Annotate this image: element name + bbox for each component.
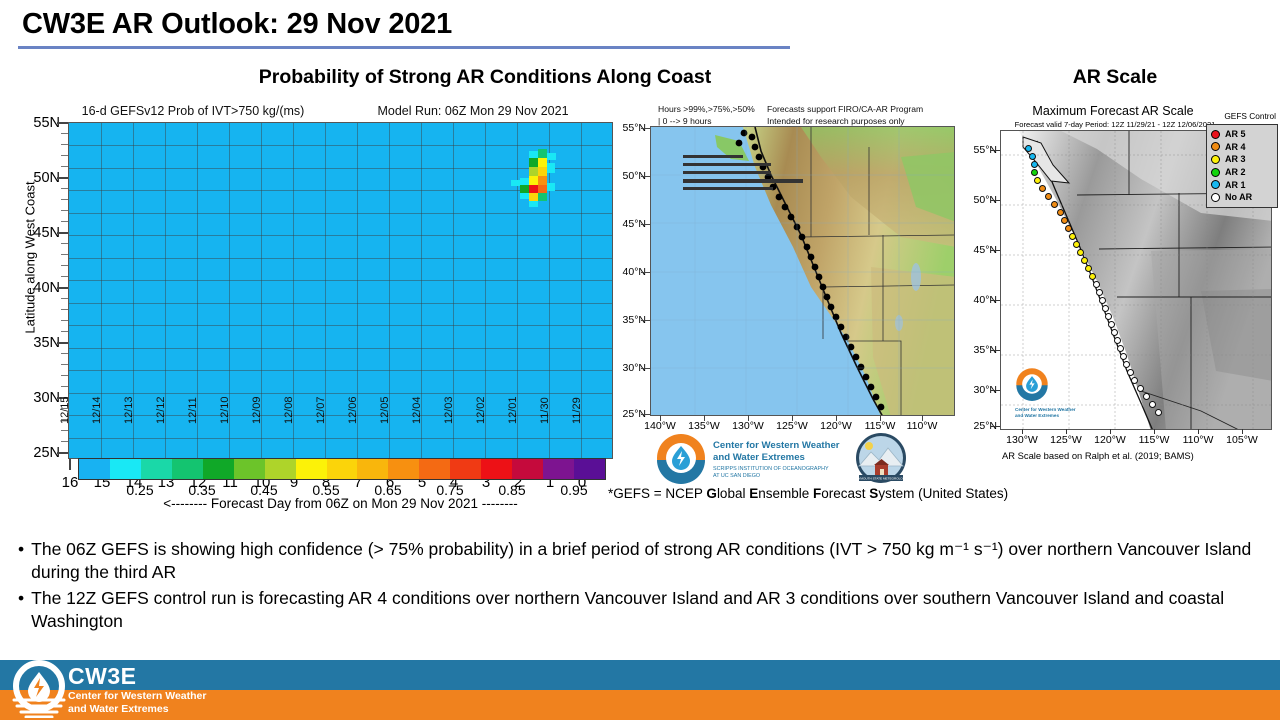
no-ar-dot-icon: [1211, 193, 1220, 202]
ar-legend-label-2: AR 2: [1225, 167, 1246, 177]
partner-logos: Center for Western Weather and Water Ext…: [655, 432, 965, 484]
xdate-1205: 12/05: [379, 396, 391, 424]
footnote-e: E: [749, 486, 758, 501]
ar5-dot-icon: [1211, 130, 1220, 139]
ar-map-inset-logo: Center for Western Weather and Water Ext…: [1015, 367, 1077, 419]
cb-label-055: 0.55: [312, 482, 339, 498]
gefs-footnote: *GEFS = NCEP Global Ensemble Forecast Sy…: [608, 486, 1008, 501]
map-hours-note-line1: Hours >99%,>75%,>50%: [658, 104, 755, 116]
page-title: CW3E AR Outlook: 29 Nov 2021: [22, 8, 452, 41]
footer-subtitle-line1: Center for Western Weather: [68, 690, 206, 703]
xdate-1208: 12/08: [283, 396, 295, 424]
xdate-1201: 12/01: [507, 396, 519, 424]
right-lon-125w: 125°W: [1050, 434, 1082, 446]
cw3e-logo-line1: Center for Western Weather: [713, 440, 840, 452]
footer-subtitle-line2: and Water Extremes: [68, 703, 206, 716]
bullet-text-1: The 06Z GEFS is showing high confidence …: [31, 538, 1268, 585]
ar-legend-label-3: AR 3: [1225, 154, 1246, 164]
xdate-1215: 12/15: [59, 396, 71, 424]
cw3e-logo-line4: AT UC SAN DIEGO: [713, 473, 840, 480]
cb-label-035: 0.35: [188, 482, 215, 498]
xdate-1129: 11/29: [571, 397, 583, 424]
cw3e-logo-line3: SCRIPPS INSTITUTION OF OCEANOGRAPHY: [713, 466, 840, 473]
cb-label-045: 0.45: [250, 482, 277, 498]
xdate-1206: 12/06: [347, 396, 359, 424]
right-lon-115w: 115°W: [1139, 434, 1170, 446]
heading-probability: Probability of Strong AR Conditions Alon…: [140, 66, 830, 89]
ar2-dot-icon: [1211, 168, 1220, 177]
right-lon-120w: 120°W: [1094, 434, 1126, 446]
ar-legend-row-noar: No AR: [1211, 191, 1273, 204]
footnote-s: S: [869, 486, 878, 501]
bullet-text-2: The 12Z GEFS control run is forecasting …: [31, 587, 1268, 634]
cw3e-logo-mark: [655, 432, 707, 484]
ar-scale-legend: AR 5 AR 4 AR 3 AR 2 AR 1 No AR: [1206, 124, 1278, 208]
ar-legend-label-5: AR 5: [1225, 129, 1246, 139]
cb-label-025: 0.25: [126, 482, 153, 498]
hovmoller-plot-area: [68, 122, 613, 459]
ar-legend-title: GEFS Control: [1224, 111, 1276, 121]
mid-lon-120w: 120°W: [820, 420, 852, 432]
cb-label-085: 0.85: [498, 482, 525, 498]
ytick-50n: 50N: [8, 170, 60, 186]
map-program-note-line1: Forecasts support FIRO/CA-AR Program: [767, 104, 923, 116]
probability-colorbar: 0.25 0.35 0.45 0.55 0.65 0.75 0.85 0.95: [78, 458, 606, 502]
footnote-prefix: *GEFS = NCEP: [608, 486, 706, 501]
ar-legend-row-1: AR 1: [1211, 178, 1273, 191]
cw3e-scripps-logo: [655, 432, 707, 489]
xdate-1212: 12/12: [155, 396, 167, 424]
ytick-35n: 35N: [8, 335, 60, 351]
ar-scale-map-subtitle: Forecast valid 7-day Period: 12Z 11/29/2…: [990, 120, 1240, 129]
xdate-1130: 11/30: [539, 397, 551, 424]
terrain-map: [650, 126, 955, 416]
footer-subtitle: Center for Western Weather and Water Ext…: [68, 690, 206, 716]
ytick-40n: 40N: [8, 280, 60, 296]
colorbar-swatches: [78, 458, 606, 480]
right-lon-130w: 130°W: [1006, 434, 1038, 446]
footnote-orecast: orecast: [821, 486, 869, 501]
ytick-25n: 25N: [8, 445, 60, 461]
cw3e-logo-text: Center for Western Weather and Water Ext…: [713, 440, 840, 481]
mid-lon-140w: 140°W: [644, 420, 676, 432]
right-lon-105w: 105°W: [1226, 434, 1258, 446]
ar-legend-label-4: AR 4: [1225, 142, 1246, 152]
plymouth-logo-mark: PLYMOUTH STATE METEOROLOGY: [855, 432, 907, 484]
xdate-1213: 12/13: [123, 396, 135, 424]
xdate-1204: 12/04: [411, 396, 423, 424]
ar1-dot-icon: [1211, 180, 1220, 189]
xdate-1210: 12/10: [219, 396, 231, 424]
xdate-1203: 12/03: [443, 396, 455, 424]
svg-text:PLYMOUTH STATE METEOROLOGY: PLYMOUTH STATE METEOROLOGY: [855, 477, 907, 481]
ar4-dot-icon: [1211, 142, 1220, 151]
bullet-list: • The 06Z GEFS is showing high confidenc…: [18, 538, 1268, 636]
ar-legend-row-3: AR 3: [1211, 153, 1273, 166]
xdate-1207: 12/07: [315, 396, 327, 424]
ytick-45n: 45N: [8, 225, 60, 241]
hovmoller-plot-title: 16-d GEFSv12 Prob of IVT>750 kg/(ms): [48, 104, 338, 118]
xdate-1214: 12/14: [91, 396, 103, 424]
xday-16: 16: [62, 474, 79, 491]
footer-brand: CW3E: [68, 663, 136, 690]
footer-logo-mark: [10, 660, 68, 718]
ytick-55n: 55N: [8, 115, 60, 131]
cw3e-logo-line2: and Water Extremes: [713, 452, 840, 464]
cb-label-095: 0.95: [560, 482, 587, 498]
right-lon-110w: 110°W: [1183, 434, 1214, 446]
mid-lon-135w: 135°W: [688, 420, 720, 432]
footnote-lobal: lobal: [717, 486, 749, 501]
map-hours-note: Hours >99%,>75%,>50% | 0 --> 9 hours: [658, 104, 755, 127]
plymouth-state-logo: PLYMOUTH STATE METEOROLOGY: [855, 432, 907, 489]
ytick-30n: 30N: [8, 390, 60, 406]
hovmoller-model-run: Model Run: 06Z Mon 29 Nov 2021: [328, 104, 618, 118]
ar3-dot-icon: [1211, 155, 1220, 164]
cb-label-065: 0.65: [374, 482, 401, 498]
mid-lon-125w: 125°W: [776, 420, 808, 432]
mid-lon-110w: 110°W: [907, 420, 938, 432]
ar-legend-label-noar: No AR: [1225, 192, 1252, 202]
ar-scale-map-title: Maximum Forecast AR Scale: [998, 104, 1228, 118]
xdate-1202: 12/02: [475, 396, 487, 424]
footnote-ystem: ystem (United States): [878, 486, 1008, 501]
terrain-map-panel: Hours >99%,>75%,>50% | 0 --> 9 hours For…: [612, 100, 962, 430]
heading-ar-scale: AR Scale: [1000, 66, 1230, 89]
xdate-1211: 12/11: [187, 397, 199, 424]
hovmoller-probability-panel: 16-d GEFSv12 Prob of IVT>750 kg/(ms) Mod…: [8, 100, 618, 450]
map-program-note: Forecasts support FIRO/CA-AR Program Int…: [767, 104, 923, 127]
ar-legend-row-2: AR 2: [1211, 166, 1273, 179]
inset-cw3e-mark: [1015, 367, 1049, 401]
bullet-marker-icon: •: [18, 587, 24, 610]
bullet-marker-icon: •: [18, 538, 24, 561]
title-underline: [18, 46, 790, 49]
ar-legend-label-1: AR 1: [1225, 180, 1246, 190]
inset-logo-line2: and Water Extremes: [1015, 413, 1077, 419]
slide-root: CW3E AR Outlook: 29 Nov 2021 Probability…: [0, 0, 1280, 720]
cb-label-075: 0.75: [436, 482, 463, 498]
ar-legend-row-5: AR 5: [1211, 128, 1273, 141]
ar-scale-caption: AR Scale based on Ralph et al. (2019; BA…: [1002, 450, 1194, 461]
ar-legend-row-4: AR 4: [1211, 141, 1273, 154]
bullet-item-1: • The 06Z GEFS is showing high confidenc…: [18, 538, 1268, 585]
footnote-g: G: [706, 486, 717, 501]
y-axis-label: Latitude along West Coast: [23, 118, 38, 398]
ar-scale-panel: Maximum Forecast AR Scale Forecast valid…: [962, 100, 1280, 470]
footnote-nsemble: nsemble: [758, 486, 813, 501]
bullet-item-2: • The 12Z GEFS control run is forecastin…: [18, 587, 1268, 634]
xdate-1209: 12/09: [251, 396, 263, 424]
mid-lon-115w: 115°W: [865, 420, 896, 432]
mid-lon-130w: 130°W: [732, 420, 764, 432]
